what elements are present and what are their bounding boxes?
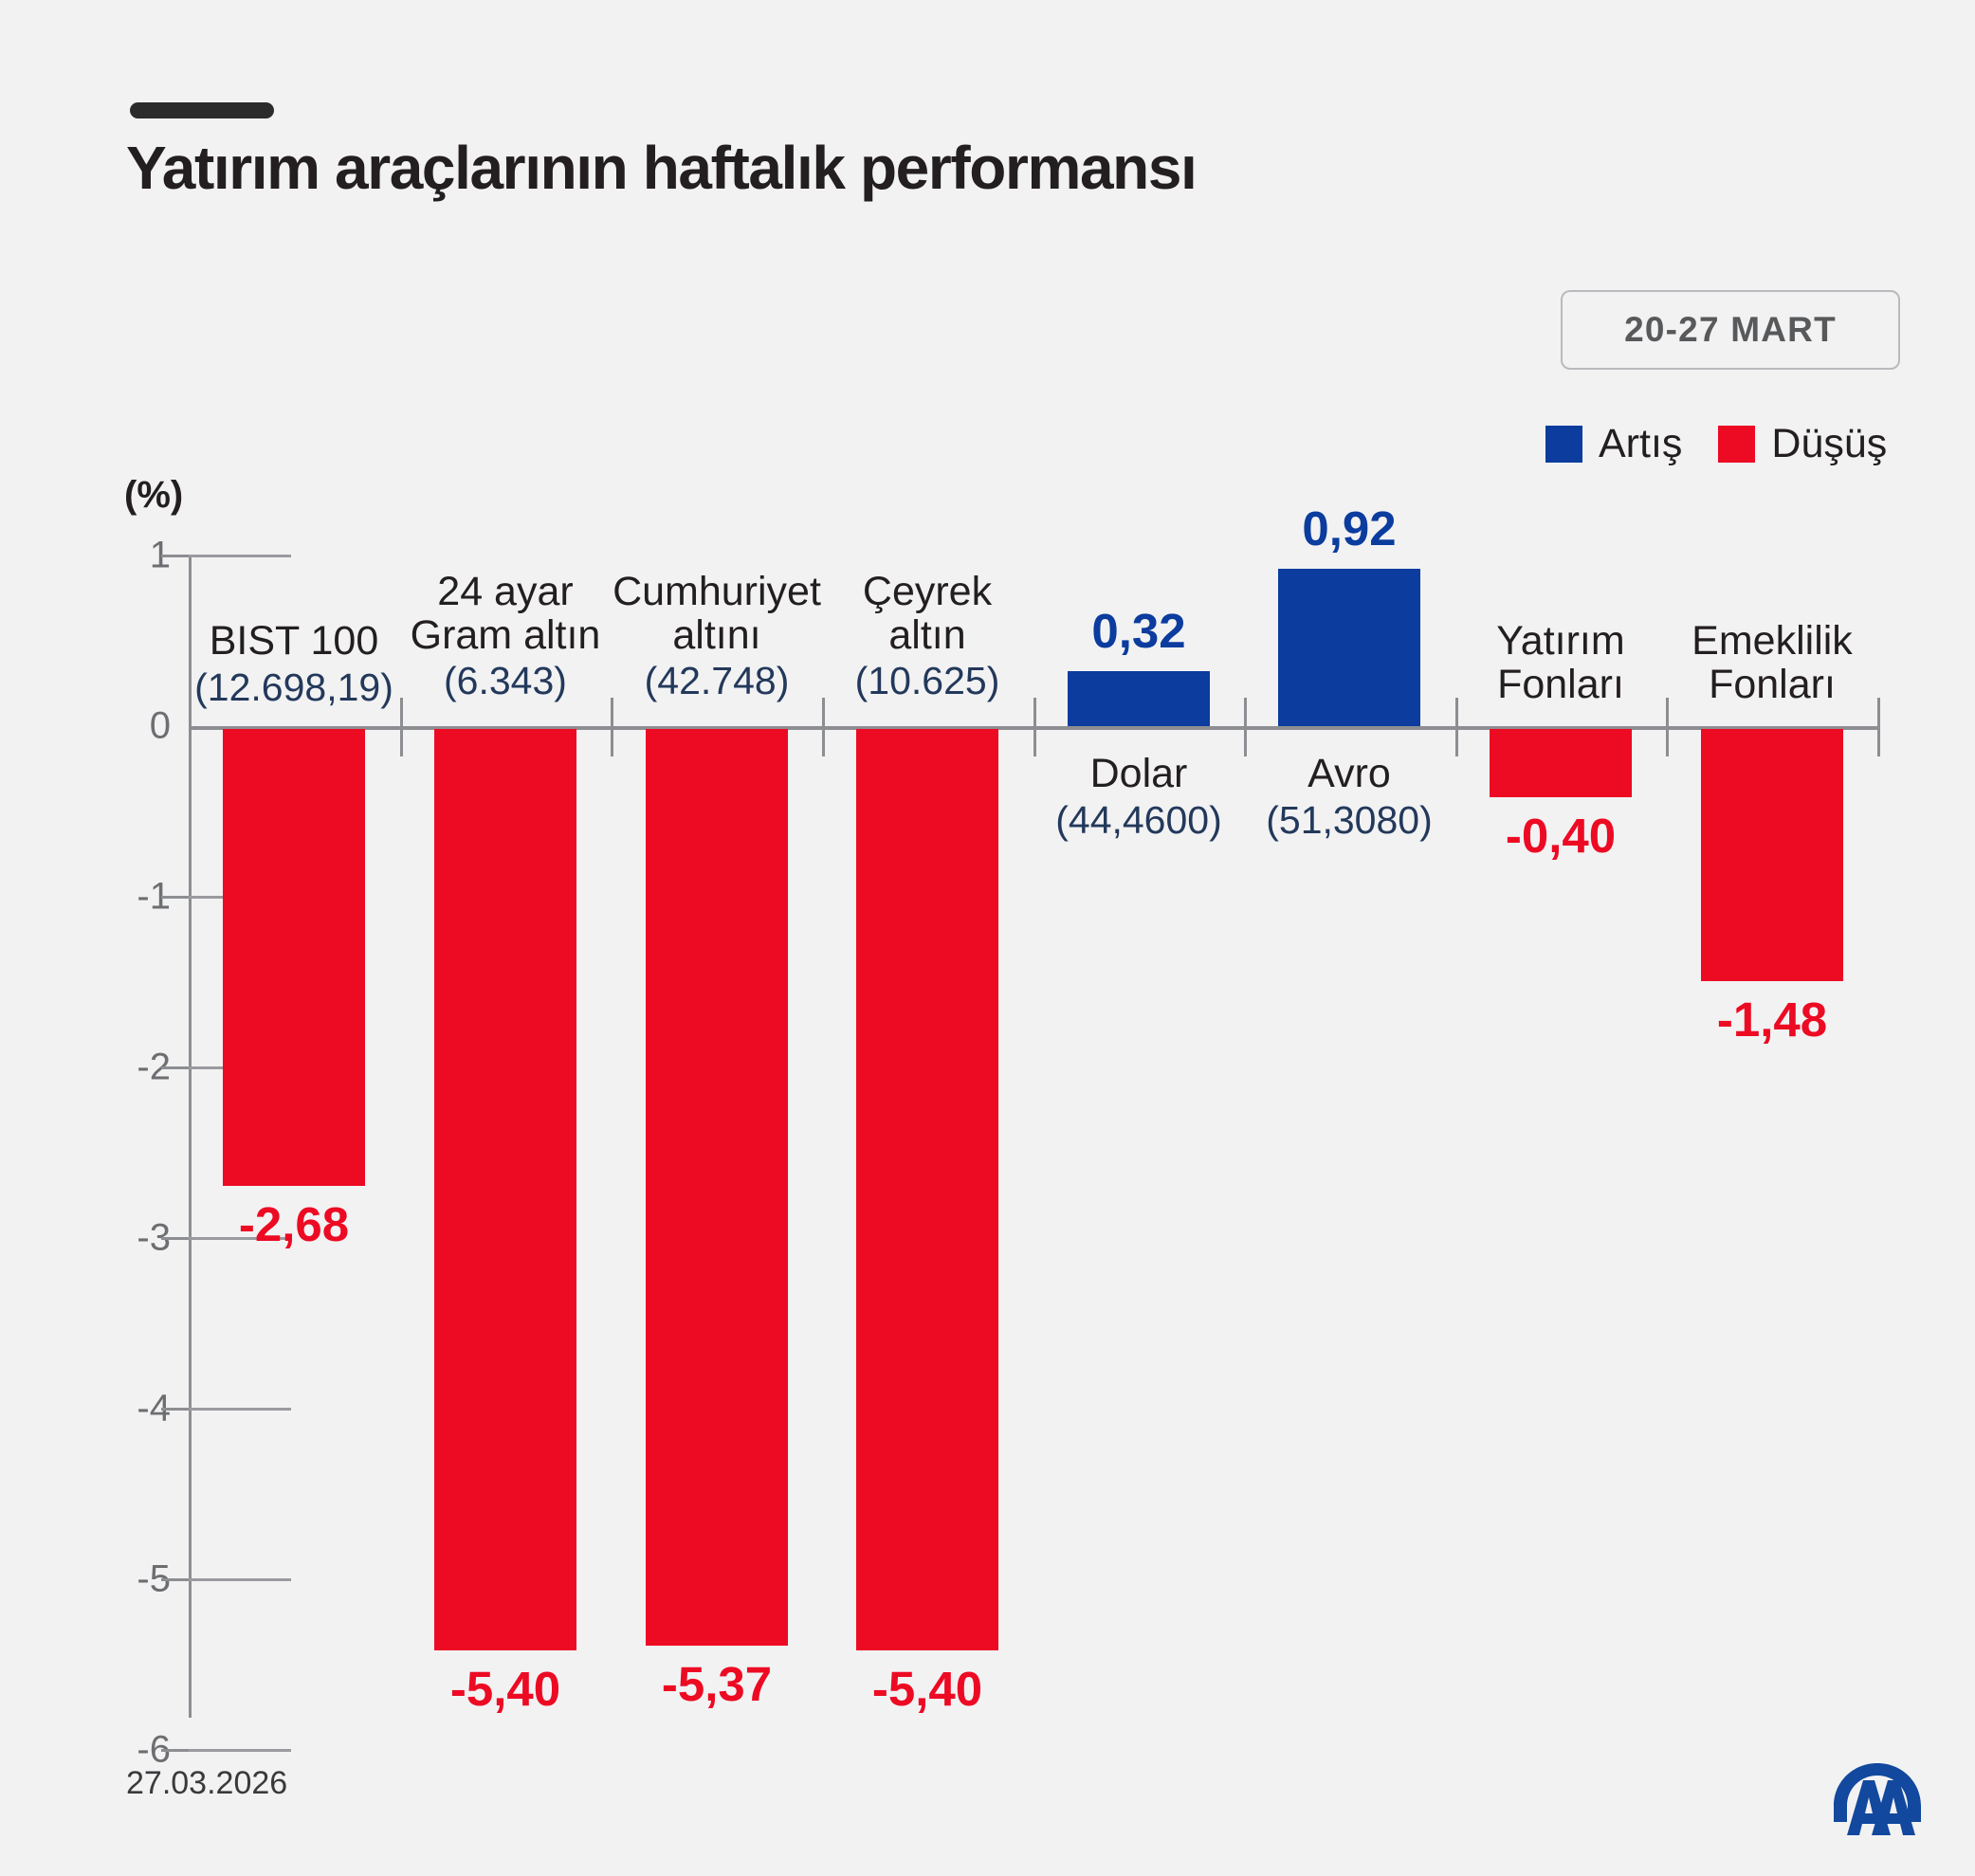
bar: [1701, 729, 1843, 981]
category-name: Emeklilik: [1620, 620, 1924, 664]
y-axis-tick: [161, 555, 190, 557]
x-axis-tick: [1455, 698, 1458, 756]
anadolu-ajansi-logo: [1825, 1759, 1929, 1839]
y-axis-tick: [161, 1066, 190, 1069]
y-axis-gridline-stub: [189, 555, 291, 557]
bar: [223, 729, 365, 1186]
y-axis-tick-label: -5: [57, 1558, 171, 1601]
bar-value-label: 0,32: [997, 603, 1281, 659]
y-axis-tick: [161, 896, 190, 899]
x-axis-tick: [611, 698, 613, 756]
y-axis-tick-label: -4: [57, 1388, 171, 1430]
bar: [646, 729, 788, 1646]
bar: [856, 729, 998, 1650]
y-axis-tick: [161, 1578, 190, 1581]
infographic-canvas: Yatırım araçlarının haftalık performansı…: [0, 0, 1975, 1876]
y-axis-unit-label: (%): [124, 474, 183, 517]
y-axis-tick-label: -1: [57, 876, 171, 919]
bar-value-label: -5,40: [785, 1661, 1070, 1717]
bar: [434, 729, 576, 1650]
y-axis-tick: [161, 1408, 190, 1411]
x-axis-tick: [1244, 698, 1247, 756]
y-axis-gridline-stub: [189, 1749, 291, 1752]
y-axis-tick-label: 1: [57, 535, 171, 577]
x-axis-tick: [1877, 698, 1880, 756]
bar: [1278, 569, 1420, 726]
bar-value-label: 0,92: [1207, 501, 1491, 556]
bar-value-label: -0,40: [1418, 808, 1703, 864]
category-name: Avro: [1198, 753, 1501, 796]
bar-category-label: EmeklilikFonları: [1620, 620, 1924, 706]
bar-chart-plot: (%) 10-1-2-3-4-5-6-2,68BIST 100(12.698,1…: [0, 0, 1975, 1876]
bar: [1068, 671, 1210, 726]
bar-value-label: -2,68: [152, 1196, 436, 1252]
x-axis-tick: [1033, 698, 1036, 756]
category-name: Fonları: [1620, 664, 1924, 707]
y-axis-tick: [161, 1749, 190, 1752]
bar-value-label: -1,48: [1630, 992, 1914, 1047]
y-axis-gridline-stub: [189, 1408, 291, 1411]
y-axis-tick-label: -2: [57, 1047, 171, 1089]
y-axis-tick-label: 0: [57, 705, 171, 748]
publication-date: 27.03.2026: [126, 1765, 287, 1802]
x-axis-tick: [1666, 698, 1669, 756]
bar: [1490, 729, 1632, 797]
y-axis-gridline-stub: [189, 1578, 291, 1581]
category-subvalue: (10.625): [776, 661, 1079, 701]
x-axis-tick: [822, 698, 825, 756]
